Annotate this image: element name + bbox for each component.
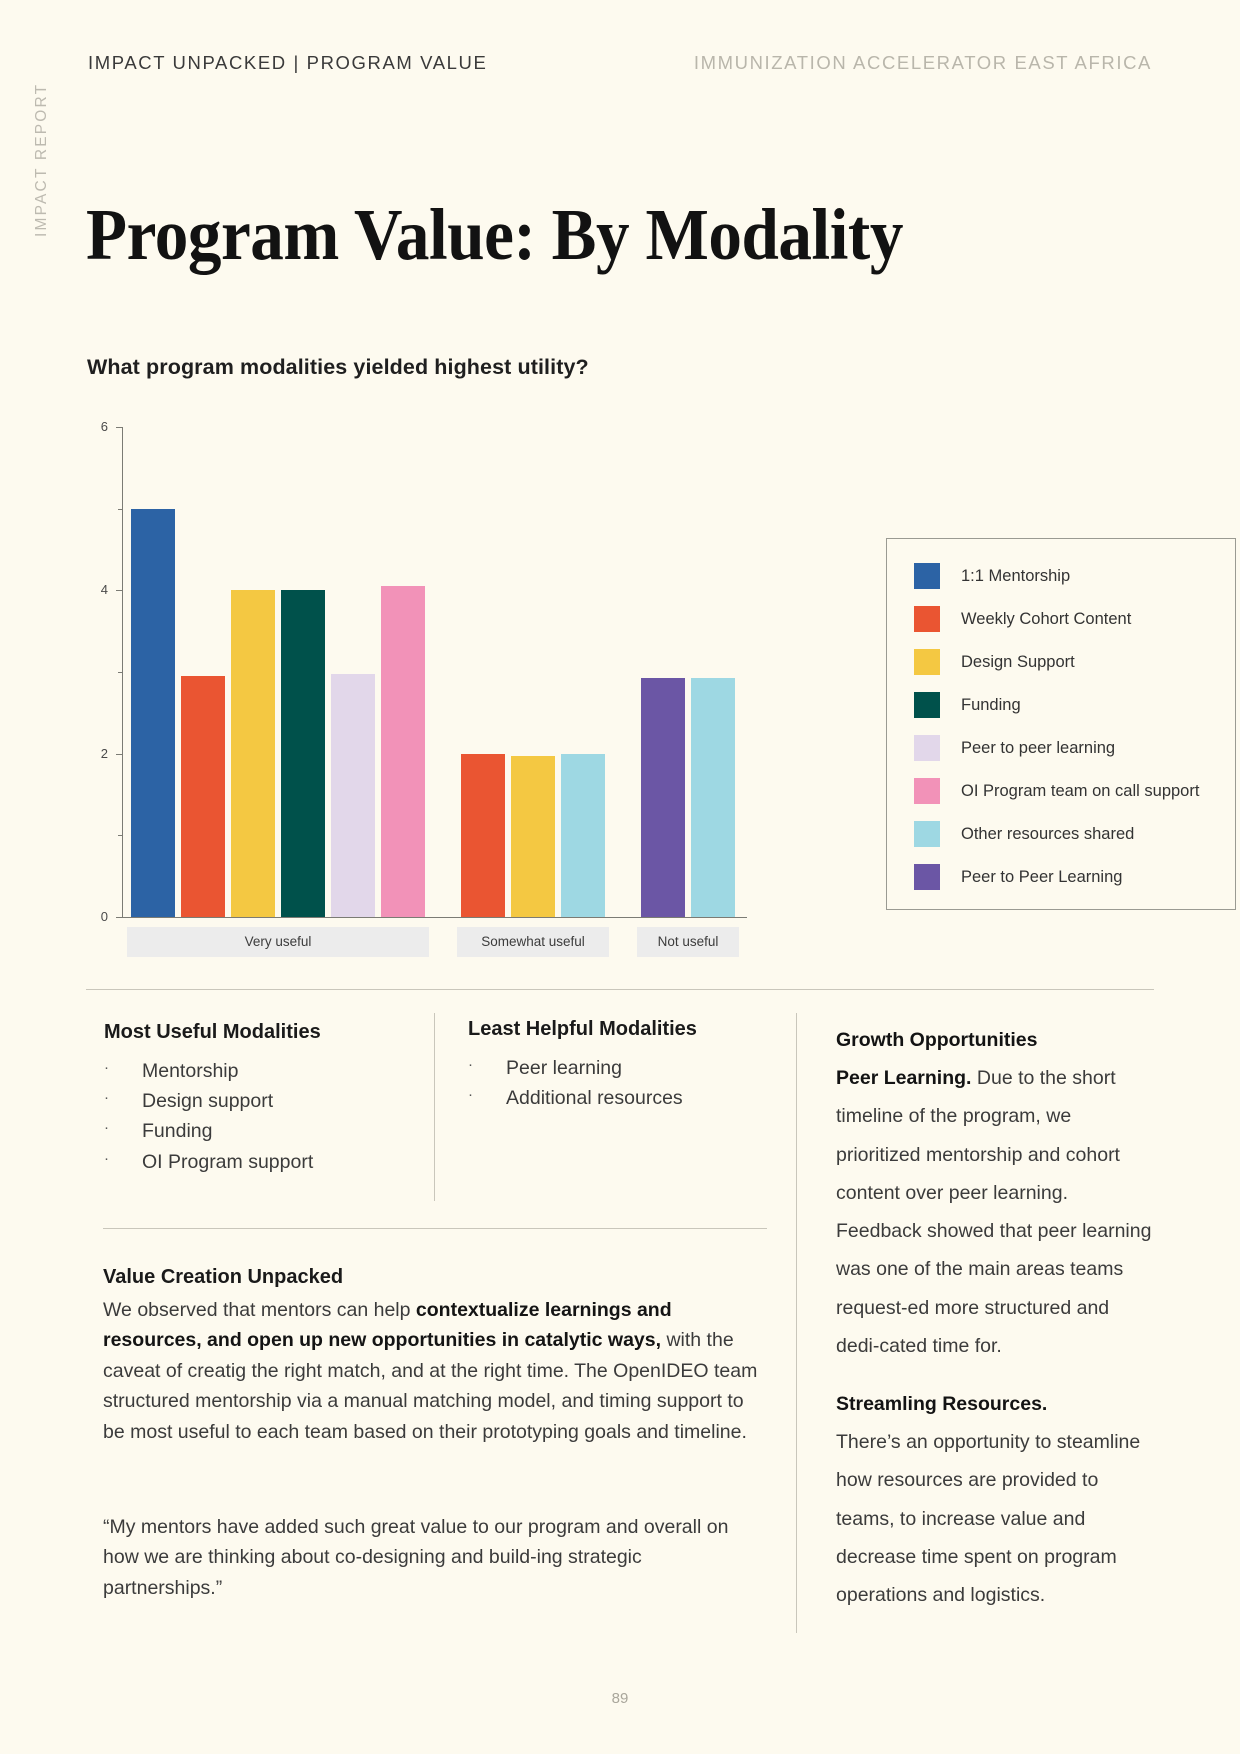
- most-useful-list: ·Mentorship·Design support·Funding·OI Pr…: [104, 1056, 404, 1177]
- plot-area: [123, 427, 747, 917]
- most-useful-label: Design support: [142, 1086, 273, 1116]
- legend-color-swatch: [914, 606, 940, 632]
- legend-item[interactable]: Peer to Peer Learning: [914, 864, 1122, 890]
- legend-label: OI Program team on call support: [961, 782, 1199, 801]
- y-axis-tick-label: 4: [86, 582, 108, 597]
- legend-color-swatch: [914, 864, 940, 890]
- legend-item[interactable]: Funding: [914, 692, 1021, 718]
- page-number: 89: [0, 1690, 1240, 1707]
- growth-heading: Growth Opportunities: [836, 1021, 1156, 1059]
- legend-item[interactable]: Other resources shared: [914, 821, 1134, 847]
- chart-bar: [331, 674, 375, 917]
- bullet-icon: ·: [104, 1147, 142, 1177]
- page-subtitle: What program modalities yielded highest …: [87, 355, 589, 380]
- y-axis-tick-label: 6: [86, 419, 108, 434]
- streamling-body: There’s an opportunity to steamline how …: [836, 1423, 1156, 1614]
- streamling-resources-block: Streamling Resources. There’s an opportu…: [836, 1385, 1156, 1614]
- most-useful-modalities-block: Most Useful Modalities ·Mentorship·Desig…: [104, 1021, 404, 1177]
- least-helpful-label: Peer learning: [506, 1053, 622, 1083]
- x-axis-group-label: Very useful: [127, 927, 429, 957]
- bullet-icon: ·: [104, 1116, 142, 1146]
- x-axis-group-label: Somewhat useful: [457, 927, 609, 957]
- y-axis-tick: [116, 917, 123, 918]
- divider-vertical-left: [434, 1013, 435, 1201]
- legend-item[interactable]: Design Support: [914, 649, 1075, 675]
- chart-bar: [561, 754, 605, 917]
- bar-chart: 0246 Very usefulSomewhat usefulNot usefu…: [86, 415, 1156, 945]
- y-axis-tick: [116, 754, 123, 755]
- y-axis-tick: [116, 427, 123, 428]
- page-header: IMPACT UNPACKED | PROGRAM VALUE IMMUNIZA…: [88, 52, 1152, 82]
- legend-color-swatch: [914, 563, 940, 589]
- bullet-icon: ·: [104, 1056, 142, 1086]
- most-useful-item: ·OI Program support: [104, 1147, 404, 1177]
- divider-mid: [103, 1228, 767, 1229]
- least-helpful-label: Additional resources: [506, 1083, 683, 1113]
- growth-subhead: Peer Learning.: [836, 1067, 971, 1089]
- legend-label: Peer to Peer Learning: [961, 868, 1122, 887]
- chart-bar: [231, 590, 275, 917]
- x-axis-group-label: Not useful: [637, 927, 739, 957]
- growth-body-text: Due to the short timeline of the program…: [836, 1067, 1151, 1357]
- legend-label: Design Support: [961, 653, 1075, 672]
- most-useful-item: ·Design support: [104, 1086, 404, 1116]
- legend-color-swatch: [914, 649, 940, 675]
- header-program-name: IMMUNIZATION ACCELERATOR EAST AFRICA: [694, 52, 1152, 74]
- chart-bar: [181, 676, 225, 917]
- x-axis-line: [122, 917, 747, 918]
- streamling-heading: Streamling Resources.: [836, 1385, 1156, 1423]
- most-useful-heading: Most Useful Modalities: [104, 1021, 404, 1044]
- most-useful-label: OI Program support: [142, 1147, 313, 1177]
- legend-item[interactable]: 1:1 Mentorship: [914, 563, 1070, 589]
- page-title: Program Value: By Modality: [86, 198, 903, 271]
- least-helpful-heading: Least Helpful Modalities: [468, 1018, 768, 1041]
- legend-item[interactable]: Peer to peer learning: [914, 735, 1115, 761]
- most-useful-item: ·Funding: [104, 1116, 404, 1146]
- growth-opportunities-block: Growth Opportunities Peer Learning. Due …: [836, 1021, 1156, 1365]
- y-axis-tick-label: 2: [86, 746, 108, 761]
- divider-vertical-right: [796, 1013, 797, 1633]
- bullet-icon: ·: [104, 1086, 142, 1116]
- legend-label: Peer to peer learning: [961, 739, 1115, 758]
- legend-label: Other resources shared: [961, 825, 1134, 844]
- bullet-icon: ·: [468, 1083, 506, 1113]
- legend-item[interactable]: Weekly Cohort Content: [914, 606, 1131, 632]
- most-useful-label: Mentorship: [142, 1056, 238, 1086]
- chart-bar: [691, 678, 735, 917]
- testimonial-quote-block: “My mentors have added such great value …: [103, 1512, 763, 1603]
- chart-bar: [381, 586, 425, 917]
- least-helpful-item: ·Peer learning: [468, 1053, 768, 1083]
- value-creation-part1: We observed that mentors can help: [103, 1299, 416, 1321]
- legend-color-swatch: [914, 735, 940, 761]
- header-breadcrumb: IMPACT UNPACKED | PROGRAM VALUE: [88, 52, 487, 74]
- chart-bar: [131, 509, 175, 917]
- legend-label: Funding: [961, 696, 1021, 715]
- legend-item[interactable]: OI Program team on call support: [914, 778, 1199, 804]
- divider-top: [86, 989, 1154, 990]
- vertical-side-label: IMPACT REPORT: [33, 37, 51, 237]
- bullet-icon: ·: [468, 1053, 506, 1083]
- legend-color-swatch: [914, 778, 940, 804]
- least-helpful-list: ·Peer learning·Additional resources: [468, 1053, 768, 1113]
- chart-bar: [281, 590, 325, 917]
- chart-bar: [511, 756, 555, 917]
- legend-color-swatch: [914, 692, 940, 718]
- most-useful-item: ·Mentorship: [104, 1056, 404, 1086]
- least-helpful-modalities-block: Least Helpful Modalities ·Peer learning·…: [468, 1018, 768, 1113]
- legend-color-swatch: [914, 821, 940, 847]
- value-creation-body: We observed that mentors can help contex…: [103, 1295, 767, 1447]
- testimonial-quote: “My mentors have added such great value …: [103, 1512, 763, 1603]
- most-useful-label: Funding: [142, 1116, 212, 1146]
- legend-label: Weekly Cohort Content: [961, 610, 1131, 629]
- least-helpful-item: ·Additional resources: [468, 1083, 768, 1113]
- value-creation-block: Value Creation Unpacked We observed that…: [103, 1266, 767, 1447]
- value-creation-heading: Value Creation Unpacked: [103, 1266, 767, 1289]
- y-axis-tick: [116, 590, 123, 591]
- legend-label: 1:1 Mentorship: [961, 567, 1070, 586]
- chart-bar: [461, 754, 505, 917]
- growth-body: Peer Learning. Due to the short timeline…: [836, 1059, 1156, 1365]
- chart-legend: 1:1 MentorshipWeekly Cohort ContentDesig…: [886, 538, 1236, 910]
- chart-bar: [641, 678, 685, 917]
- y-axis-tick-label: 0: [86, 909, 108, 924]
